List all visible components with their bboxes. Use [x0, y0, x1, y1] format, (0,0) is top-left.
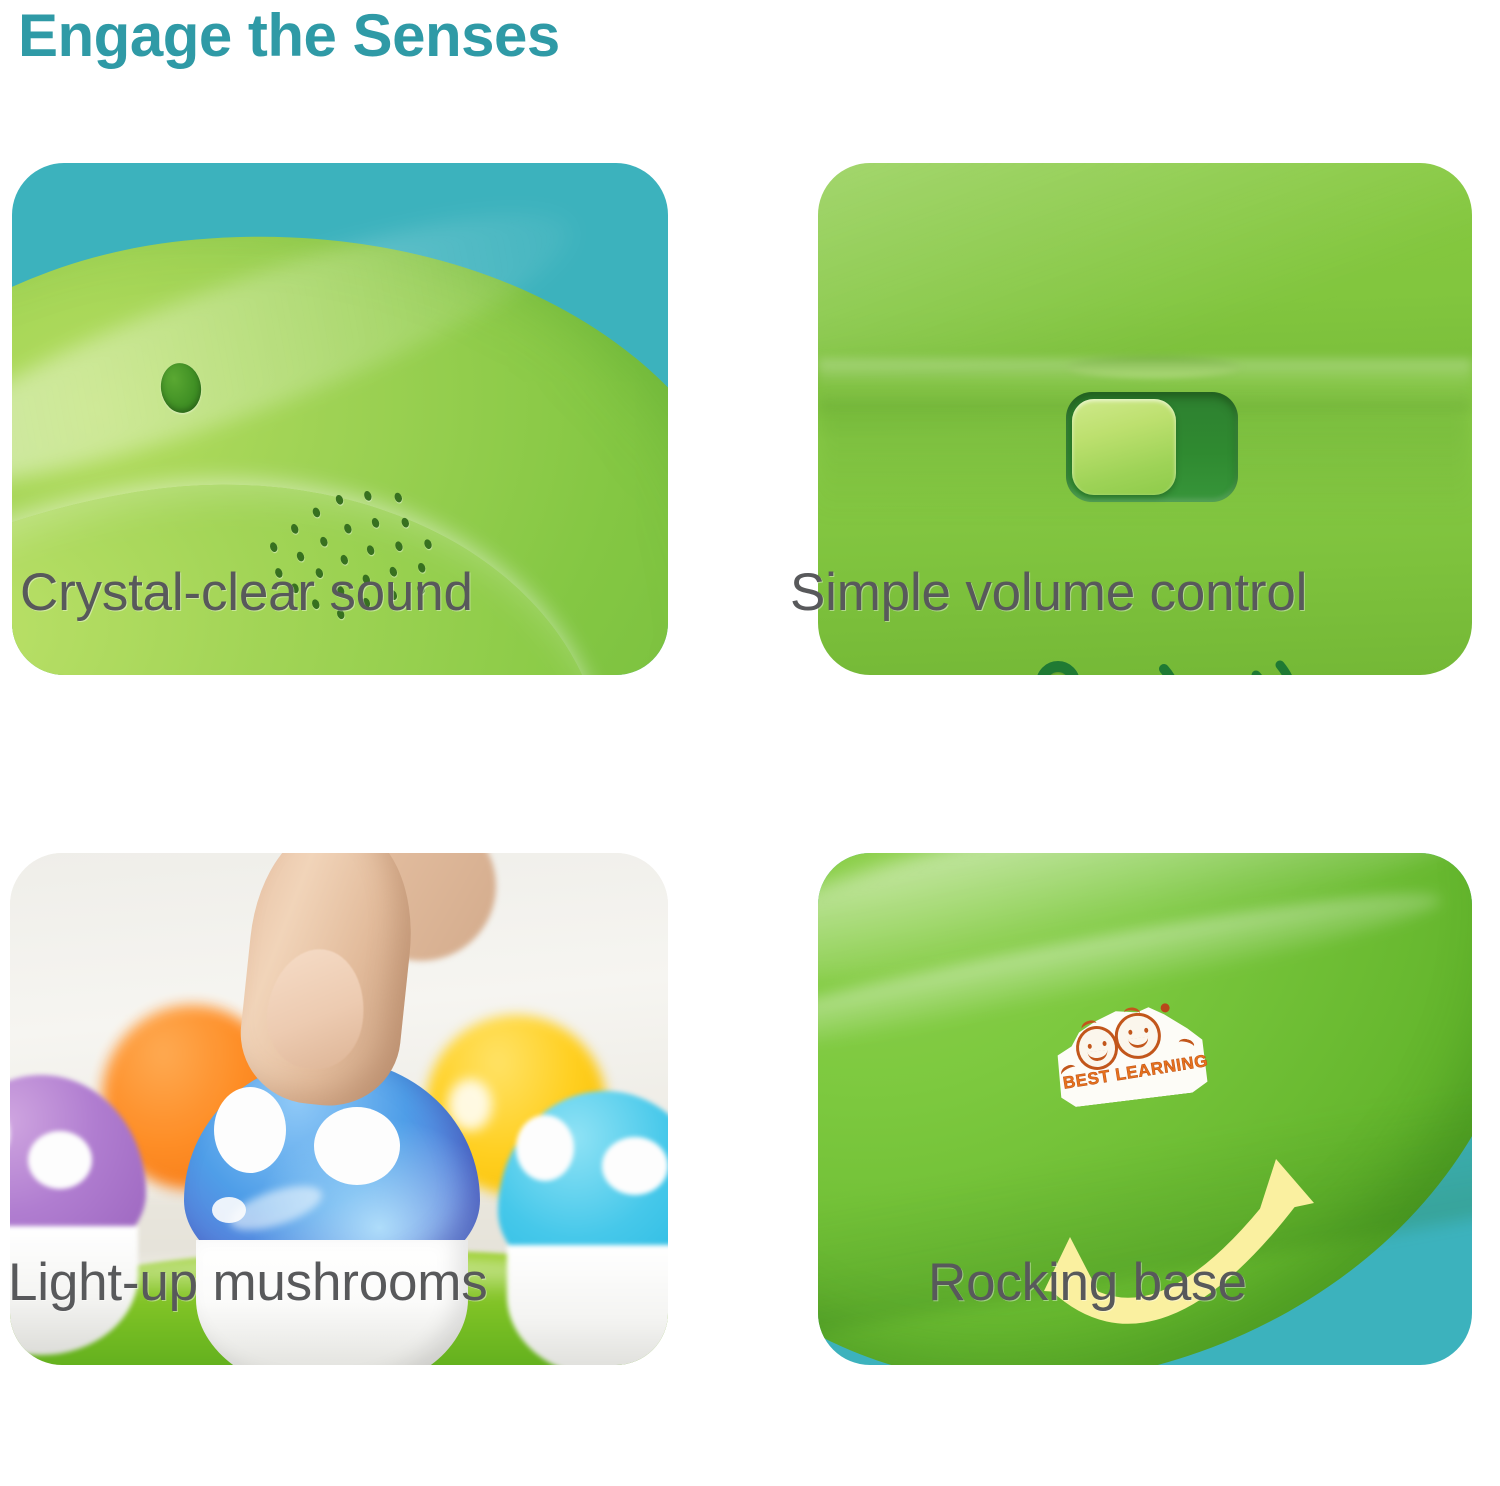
mushroom-dot: [516, 1115, 574, 1181]
brand-logo: BEST LEARNING: [1050, 999, 1210, 1109]
logo-berry-dot: [1160, 1003, 1170, 1013]
volume-high-icon: [1248, 661, 1310, 675]
caption-simple-volume-control: Simple volume control: [790, 566, 1307, 619]
mushroom-dot: [28, 1131, 92, 1189]
mushroom-dot: [602, 1137, 668, 1195]
page-title: Engage the Senses: [18, 0, 560, 73]
shell-notch: [1066, 356, 1241, 378]
logo-smile: [1128, 1037, 1149, 1049]
volume-low-icon: [1154, 661, 1198, 675]
mushroom-stem: [507, 1245, 668, 1365]
caption-rocking-base: Rocking base: [928, 1256, 1247, 1309]
logo-eye: [1102, 1041, 1107, 1046]
volume-slider-thumb[interactable]: [1072, 399, 1176, 495]
logo-eye: [1128, 1030, 1133, 1035]
mushroom-cyan: [498, 1091, 668, 1365]
volume-icon-row: [1036, 661, 1296, 675]
logo-smile: [1087, 1050, 1108, 1062]
mushroom-dot: [212, 1197, 246, 1223]
rocking-motion-arrow-icon: [1014, 1141, 1354, 1361]
caption-light-up-mushrooms: Light-up mushrooms: [8, 1256, 488, 1309]
mushroom-dot: [314, 1107, 400, 1185]
caption-crystal-clear-sound: Crystal-clear sound: [20, 566, 473, 619]
volume-slider-switch[interactable]: [1066, 392, 1238, 502]
mushroom-purple: [10, 1075, 146, 1355]
panel-sheen: [818, 163, 1472, 363]
feature-collage: Engage the Senses: [0, 0, 1500, 1486]
volume-off-icon: [1036, 661, 1080, 675]
logo-eye: [1087, 1044, 1092, 1049]
logo-eye: [1144, 1028, 1149, 1033]
mushroom-dot: [214, 1087, 286, 1173]
